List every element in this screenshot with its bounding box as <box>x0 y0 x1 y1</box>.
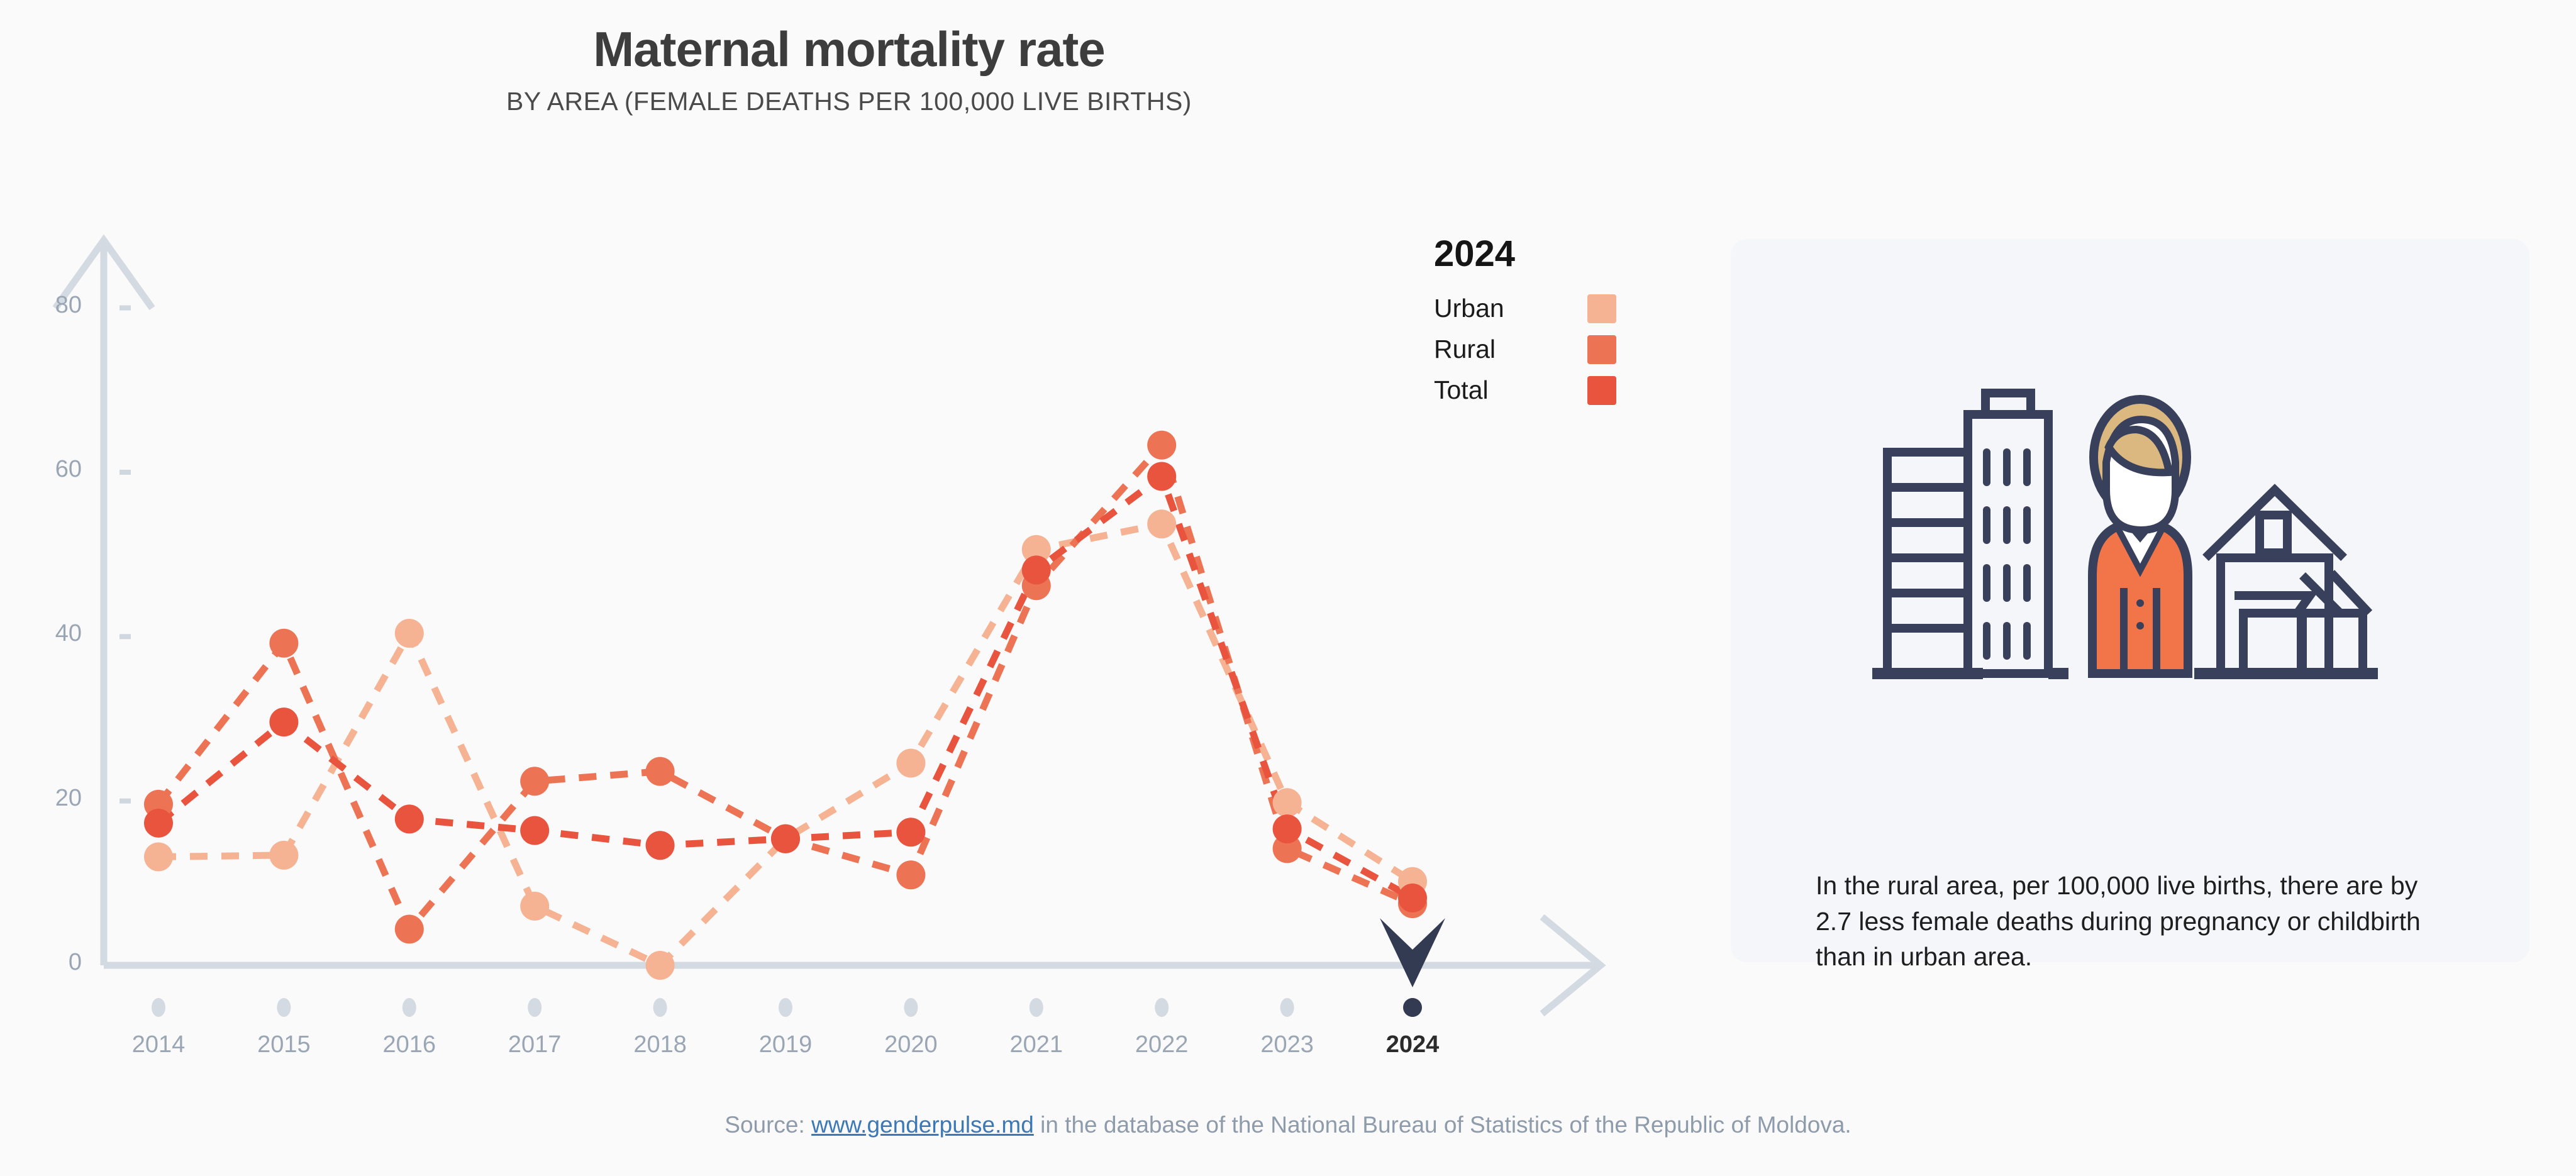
data-point-total-2016[interactable] <box>395 804 424 833</box>
data-point-urban-2016[interactable] <box>395 619 424 648</box>
series-line-urban <box>158 524 1413 965</box>
y-tick-label-40: 40 <box>25 620 82 647</box>
legend-item-label: Total <box>1434 375 1489 405</box>
data-point-total-2022[interactable] <box>1147 462 1176 491</box>
x-tick-label-2015[interactable]: 2015 <box>221 1031 347 1058</box>
data-point-urban-2015[interactable] <box>269 841 298 870</box>
legend-item-total[interactable]: Total <box>1434 375 1616 405</box>
data-point-total-2014[interactable] <box>144 809 173 838</box>
insight-card: In the rural area, per 100,000 live birt… <box>1731 239 2529 962</box>
data-point-urban-2022[interactable] <box>1147 509 1176 538</box>
x-axis <box>104 917 1601 1014</box>
legend-color-swatch <box>1587 294 1616 323</box>
data-point-urban-2017[interactable] <box>520 892 549 921</box>
data-point-urban-2020[interactable] <box>896 749 925 778</box>
data-point-rural-2022[interactable] <box>1147 431 1176 460</box>
city-woman-house-illustration-icon <box>1860 374 2401 755</box>
data-point-total-2023[interactable] <box>1273 814 1302 843</box>
y-tick-label-20: 20 <box>25 785 82 812</box>
y-tick-label-0: 0 <box>25 949 82 976</box>
x-tick-label-2020[interactable]: 2020 <box>848 1031 974 1058</box>
data-point-total-2024[interactable] <box>1398 884 1427 913</box>
series-layer <box>144 431 1427 980</box>
data-point-urban-2018[interactable] <box>646 951 675 980</box>
chart-area: 2014201520162017201820192020202120222023… <box>0 0 1698 1107</box>
x-tick-label-2018[interactable]: 2018 <box>597 1031 723 1058</box>
legend-item-urban[interactable]: Urban <box>1434 294 1616 323</box>
x-tick-label-2019[interactable]: 2019 <box>723 1031 848 1058</box>
x-tick-label-2016[interactable]: 2016 <box>347 1031 472 1058</box>
x-tick-label-2022[interactable]: 2022 <box>1099 1031 1224 1058</box>
legend-item-rural[interactable]: Rural <box>1434 335 1616 364</box>
data-point-rural-2020[interactable] <box>896 860 925 889</box>
x-tick-label-2024[interactable]: 2024 <box>1350 1031 1475 1058</box>
data-point-rural-2016[interactable] <box>395 915 424 944</box>
data-point-rural-2018[interactable] <box>646 757 675 786</box>
legend-color-swatch <box>1587 335 1616 364</box>
y-tick-label-80: 80 <box>25 292 82 319</box>
footer-suffix: in the database of the National Bureau o… <box>1034 1112 1851 1138</box>
data-point-total-2018[interactable] <box>646 831 675 860</box>
data-point-total-2017[interactable] <box>520 816 549 845</box>
y-tick-label-60: 60 <box>25 456 82 483</box>
x-tick-label-2014[interactable]: 2014 <box>96 1031 221 1058</box>
data-point-urban-2014[interactable] <box>144 843 173 872</box>
legend-item-label: Rural <box>1434 335 1496 364</box>
data-point-total-2020[interactable] <box>896 818 925 846</box>
legend-rows: UrbanRuralTotal <box>1434 294 1623 405</box>
legend-color-swatch <box>1587 376 1616 405</box>
data-point-total-2021[interactable] <box>1022 555 1051 584</box>
legend-item-label: Urban <box>1434 294 1504 323</box>
source-footer: Source: www.genderpulse.md in the databa… <box>0 1112 2576 1138</box>
data-point-total-2015[interactable] <box>269 707 298 736</box>
line-chart-plot <box>0 0 1698 1107</box>
chart-legend: 2024 UrbanRuralTotal <box>1434 233 1623 416</box>
data-point-total-2019[interactable] <box>771 824 800 853</box>
x-tick-label-2023[interactable]: 2023 <box>1224 1031 1350 1058</box>
insight-text: In the rural area, per 100,000 live birt… <box>1816 868 2457 975</box>
series-line-rural <box>158 445 1413 929</box>
x-tick-dots <box>152 998 1419 1017</box>
y-tick-marks <box>119 306 131 804</box>
legend-year: 2024 <box>1434 233 1623 275</box>
footer-prefix: Source: <box>724 1112 811 1138</box>
data-point-rural-2017[interactable] <box>520 767 549 796</box>
data-point-urban-2023[interactable] <box>1273 788 1302 817</box>
source-link[interactable]: www.genderpulse.md <box>811 1112 1034 1138</box>
data-point-rural-2015[interactable] <box>269 629 298 658</box>
x-tick-label-2017[interactable]: 2017 <box>472 1031 597 1058</box>
x-tick-label-2021[interactable]: 2021 <box>974 1031 1099 1058</box>
y-axis <box>55 240 152 965</box>
